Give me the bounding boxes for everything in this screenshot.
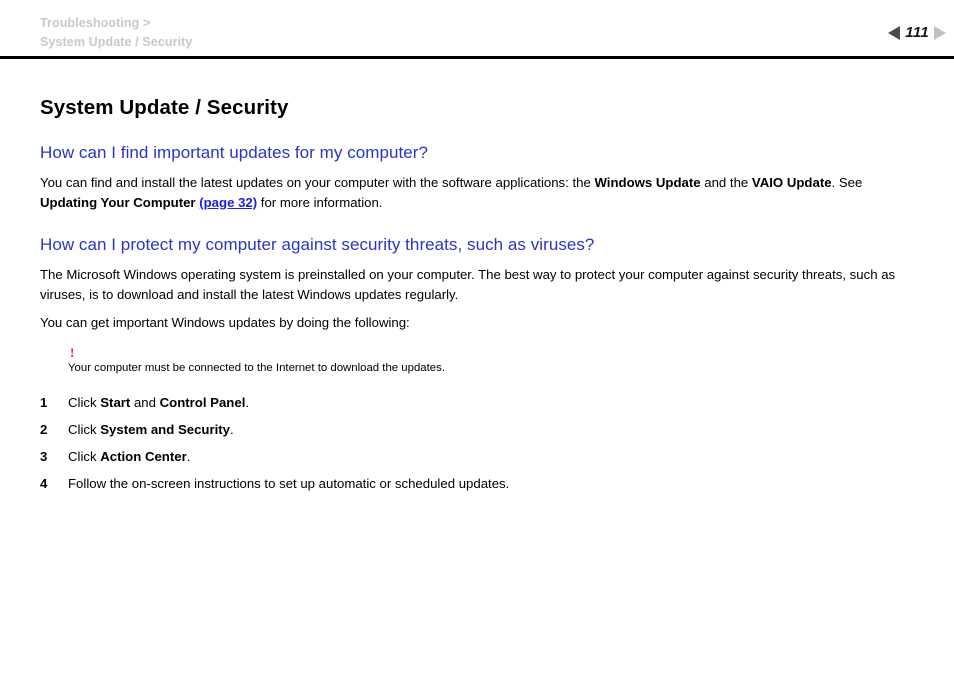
section-heading-updates: How can I find important updates for my …	[40, 142, 914, 163]
breadcrumb-parent: Troubleshooting >	[40, 14, 192, 33]
caution-note: ! Your computer must be connected to the…	[68, 347, 914, 376]
step-number: 4	[40, 474, 68, 493]
paragraph-windows-preinstalled: The Microsoft Windows operating system i…	[40, 265, 912, 304]
term-control-panel: Control Panel	[160, 395, 246, 410]
text-fragment: Click	[68, 422, 100, 437]
step-number: 3	[40, 447, 68, 466]
list-item: 4 Follow the on-screen instructions to s…	[40, 474, 914, 493]
paragraph-find-updates: You can find and install the latest upda…	[40, 173, 912, 212]
instruction-steps-list: 1 Click Start and Control Panel. 2 Click…	[40, 393, 914, 493]
step-text: Click Start and Control Panel.	[68, 393, 914, 412]
text-fragment: for more information.	[257, 195, 382, 210]
header-divider	[0, 56, 954, 59]
warning-exclamation-icon: !	[70, 347, 914, 358]
term-vaio-update: VAIO Update	[752, 175, 832, 190]
page-header: Troubleshooting > System Update / Securi…	[0, 0, 954, 57]
text-fragment: Click	[68, 395, 100, 410]
list-item: 3 Click Action Center.	[40, 447, 914, 466]
page-reference-link[interactable]: (page 32)	[199, 195, 257, 210]
previous-page-arrow-icon[interactable]	[888, 26, 900, 40]
page-navigation: 111	[888, 24, 946, 41]
document-content: System Update / Security How can I find …	[0, 96, 954, 493]
text-fragment: .	[230, 422, 234, 437]
step-number: 2	[40, 420, 68, 439]
paragraph-get-updates-intro: You can get important Windows updates by…	[40, 313, 912, 333]
term-windows-update: Windows Update	[594, 175, 700, 190]
list-item: 2 Click System and Security.	[40, 420, 914, 439]
text-fragment: and	[130, 395, 159, 410]
term-updating-your-computer: Updating Your Computer	[40, 195, 196, 210]
text-fragment: . See	[832, 175, 863, 190]
term-action-center: Action Center	[100, 449, 186, 464]
next-page-arrow-icon[interactable]	[934, 26, 946, 40]
step-text: Click System and Security.	[68, 420, 914, 439]
text-fragment: .	[245, 395, 249, 410]
list-item: 1 Click Start and Control Panel.	[40, 393, 914, 412]
breadcrumb-current: System Update / Security	[40, 33, 192, 52]
step-text: Follow the on-screen instructions to set…	[68, 474, 914, 493]
page-number: 111	[905, 24, 929, 41]
term-system-and-security: System and Security	[100, 422, 230, 437]
page-title: System Update / Security	[40, 96, 914, 120]
step-text: Click Action Center.	[68, 447, 914, 466]
text-fragment: .	[187, 449, 191, 464]
text-fragment: and the	[701, 175, 752, 190]
text-fragment: Click	[68, 449, 100, 464]
term-start: Start	[100, 395, 130, 410]
text-fragment: You can find and install the latest upda…	[40, 175, 594, 190]
caution-note-text: Your computer must be connected to the I…	[68, 361, 914, 376]
section-heading-security: How can I protect my computer against se…	[40, 234, 914, 255]
step-number: 1	[40, 393, 68, 412]
breadcrumb: Troubleshooting > System Update / Securi…	[40, 14, 192, 52]
